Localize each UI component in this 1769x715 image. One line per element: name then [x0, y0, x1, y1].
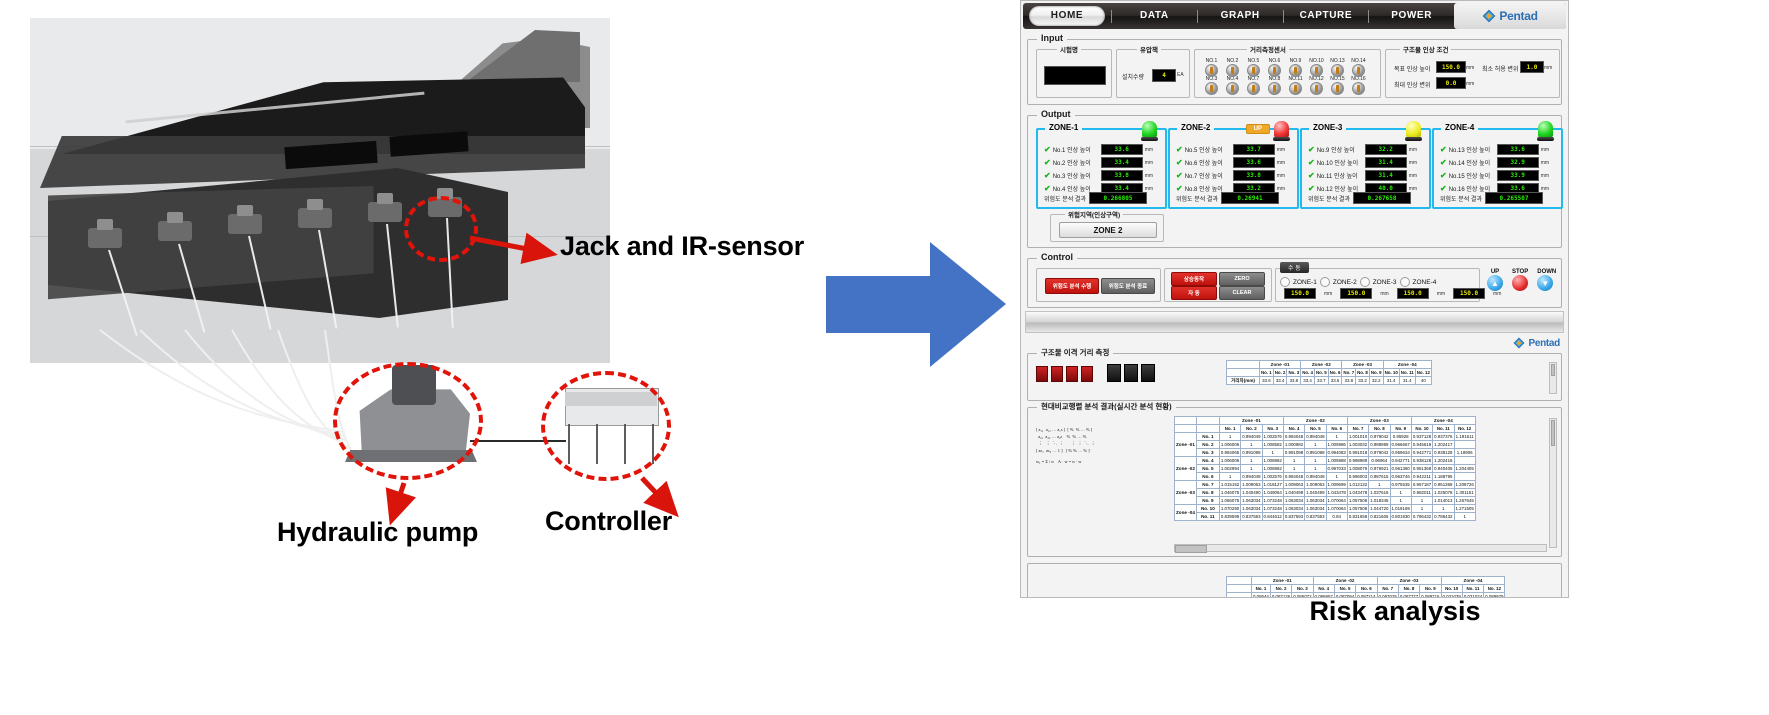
tab-capture[interactable]: CAPTURE	[1284, 3, 1369, 29]
sensor-icon[interactable]	[1352, 82, 1365, 95]
zone-2-radio[interactable]	[1320, 277, 1330, 287]
zone-3-unit-1: mm	[1409, 147, 1417, 153]
zone-4-check-icon: ✔	[1440, 159, 1447, 167]
analysis-cell: 1.001010	[1347, 433, 1368, 441]
analysis-zone-header-row: Zone -01Zone -02Zone -03Zone -04	[1175, 417, 1476, 425]
zone-4-group: ZONE-4 ✔No.13 인상 높이33.6mm ✔No.14 인상 높이32…	[1432, 128, 1563, 209]
analysis-col-2: No. 2	[1241, 425, 1262, 433]
measure-cell: 33.8	[1342, 377, 1356, 385]
zone-3-row-label: No.10 인상 높이	[1317, 158, 1363, 167]
measure-sensor-icons	[1036, 364, 1155, 382]
analysis-cell: 0.942771	[1390, 457, 1411, 465]
zone-2-unit-1: mm	[1277, 147, 1285, 153]
distance-sensor-caption: 거리측정센서	[1247, 44, 1289, 54]
analysis-cell: 0.786432	[1411, 513, 1432, 521]
measure-cell: 33.8	[1287, 377, 1301, 385]
zone-3-manual-value: 150.0	[1397, 288, 1429, 299]
zone-1-row-label: No.2 인상 높이	[1053, 158, 1099, 167]
output-panel-title: Output	[1037, 109, 1075, 119]
measure-col: No. 5	[1314, 369, 1328, 377]
zone-2-row-label: No.7 인상 높이	[1185, 171, 1231, 180]
analysis-cell: 0.942771	[1411, 449, 1432, 457]
analysis-cell: 0.991018	[1347, 449, 1368, 457]
zone-2-value-3: 33.8	[1233, 170, 1275, 181]
zone-3-row-label: No.9 인상 높이	[1317, 145, 1363, 154]
analysis-section-panel: 현대비교행렬 분석 결과(실시간 분석 현황) [ a₁₁ a₁₂ … a₁ₙ …	[1027, 407, 1562, 557]
summary-zone-header-2: Zone -02	[1313, 577, 1377, 585]
analysis-cell: 1.002576	[1262, 473, 1283, 481]
stop-analysis-button[interactable]: 위험도 분석 종료	[1101, 278, 1155, 294]
sensor-icon[interactable]	[1310, 64, 1323, 77]
analysis-cell: 1.18906	[1454, 449, 1475, 457]
measure-cell: 33.7	[1314, 377, 1328, 385]
measure-col: No. 3	[1287, 369, 1301, 377]
analysis-cell: 0.994048	[1305, 433, 1326, 441]
summary-col: No. 11	[1462, 585, 1483, 593]
zone-4-unit-2: mm	[1541, 160, 1549, 166]
analysis-cell: 0.994048	[1283, 433, 1304, 441]
zone-2-group: ZONE-2 UP ✔No.5 인상 높이33.7mm ✔No.6 인상 높이3…	[1168, 128, 1299, 209]
zone-3-value-2: 31.4	[1365, 157, 1407, 168]
max-disp-value[interactable]: 0.0	[1436, 77, 1466, 89]
analysis-cell: 1.267645	[1454, 497, 1475, 505]
zone-4-risk-label: 위험도 분석 결과	[1440, 194, 1482, 203]
test-name-group: 시험명	[1036, 49, 1112, 98]
zone-3-check-icon: ✔	[1308, 159, 1315, 167]
table-row: Zone -04No. 101.0702901.0630341.0732481.…	[1175, 505, 1476, 513]
analysis-cell: 0.839599	[1219, 513, 1240, 521]
sensor-cell: NO.8	[1264, 76, 1285, 94]
analysis-cell: 1.271505	[1454, 505, 1475, 513]
measure-col: No. 2	[1273, 369, 1287, 377]
sensor-cell: NO.16	[1348, 76, 1369, 94]
zone-1-check-icon: ✔	[1044, 146, 1051, 154]
sensor-icon[interactable]	[1352, 64, 1365, 77]
jog-control-group: UP ▲ STOP DOWN ▼	[1487, 269, 1556, 291]
zone-4-check-icon: ✔	[1440, 172, 1447, 180]
measure-indicator-1	[1036, 366, 1048, 382]
table-row: Zone -03No. 71.0151521.0090631.0181271.0…	[1175, 481, 1476, 489]
zone-4-status-lamp	[1538, 121, 1553, 138]
sensor-cell: NO.7	[1243, 76, 1264, 94]
sensor-icon[interactable]	[1268, 82, 1281, 95]
analysis-row-no: No. 3	[1196, 449, 1219, 457]
analysis-cell: 1.003032	[1347, 441, 1368, 449]
analysis-zone-header-1: Zone -01	[1219, 417, 1283, 425]
max-disp-label: 최대 인상 변위	[1394, 80, 1430, 89]
analysis-cell: 1	[1305, 465, 1326, 473]
analysis-cell: 1.044720	[1369, 505, 1390, 513]
summary-rowhdr-corner	[1227, 585, 1252, 593]
zone-1-status-lamp	[1142, 121, 1157, 138]
analysis-cell: 1.002994	[1219, 465, 1240, 473]
analysis-cell: 1.063034	[1283, 505, 1304, 513]
measure-zone-header-row: Zone -01 Zone -02 Zone -03 Zone -04	[1227, 361, 1432, 369]
table-row: No. 21.00600611.0085821.00098211.0059861…	[1175, 441, 1476, 449]
distance-sensor-group: 거리측정센서 NO.1 NO.2 NO.5 NO.6 NO.9 NO.10 NO…	[1194, 49, 1381, 98]
zone-1-row-label: No.1 인상 높이	[1053, 145, 1099, 154]
analysis-col-6: No. 6	[1326, 425, 1347, 433]
analysis-corner-b	[1196, 417, 1219, 425]
analysis-cell: 0.95928	[1390, 433, 1411, 441]
pump-buttons-group: 상승동작 ZERO 자 동 CLEAR	[1164, 268, 1272, 302]
analysis-cell: 1	[1390, 489, 1411, 497]
zone-1-risk-value: 0.266805	[1089, 192, 1147, 204]
analysis-table-scrollbar-v[interactable]	[1549, 418, 1557, 548]
window-separator-band	[1025, 311, 1564, 333]
analysis-cell: 1	[1283, 457, 1304, 465]
analysis-cell: 0.994048	[1241, 473, 1262, 481]
zone-2-value-2: 33.6	[1233, 157, 1275, 168]
lift-condition-group: 구조물 인상 조건 목표 인상 높이 150.0 mm 최소 허용 변위 편차 …	[1385, 49, 1560, 98]
sensor-icon[interactable]	[1268, 64, 1281, 77]
zone-1-manual-value: 150.0	[1284, 288, 1316, 299]
analysis-cell: 1.202417	[1433, 441, 1454, 449]
analysis-cell: 1.204405	[1454, 465, 1475, 473]
summary-corner-cell	[1227, 577, 1252, 585]
pentad-diamond-logo-icon	[1482, 9, 1496, 23]
auto-button[interactable]: 자 동	[1171, 286, 1217, 300]
analysis-cell: 0.994048	[1305, 473, 1326, 481]
measure-cell: 31.4	[1399, 377, 1415, 385]
measure-rowhdr-corner	[1227, 369, 1260, 377]
danger-zone-caption: 위험지역(인상구역)	[1065, 209, 1123, 219]
analysis-cell: 0.987615	[1369, 473, 1390, 481]
tab-home[interactable]: HOME	[1029, 6, 1105, 26]
analysis-cell: 0.937128	[1411, 433, 1432, 441]
zone-3-unit-3: mm	[1409, 173, 1417, 179]
analysis-cell: 0.996003	[1347, 473, 1368, 481]
analysis-cell: 0.979042	[1369, 433, 1390, 441]
summary-col: No. 12	[1484, 585, 1505, 593]
zone-2-check-icon: ✔	[1176, 159, 1183, 167]
analysis-cell: 0.951368	[1433, 481, 1454, 489]
zone-1-unit-3: mm	[1145, 173, 1153, 179]
analysis-col-4: No. 4	[1283, 425, 1304, 433]
summary-col: No. 7	[1377, 585, 1398, 593]
analysis-cell: 1.188795	[1433, 473, 1454, 481]
analysis-cell: 1.018127	[1262, 481, 1283, 489]
zone-4-risk-value: 0.265507	[1485, 192, 1543, 204]
analysis-table-scrollbar-h[interactable]	[1174, 544, 1547, 552]
zone-3-check-icon: ✔	[1308, 172, 1315, 180]
analysis-col-3: No. 3	[1262, 425, 1283, 433]
sensor-icon[interactable]	[1247, 82, 1260, 95]
measure-corner-cell	[1227, 361, 1260, 369]
zone-2-unit-3: mm	[1277, 173, 1285, 179]
analysis-table: Zone -01Zone -02Zone -03Zone -04No. 1No.…	[1174, 416, 1476, 521]
measure-table-scrollbar[interactable]	[1549, 362, 1557, 394]
sensor-icon[interactable]	[1331, 82, 1344, 95]
zone-2-title: ZONE-2	[1177, 123, 1214, 132]
analysis-cell: 1.040499	[1305, 489, 1326, 497]
analysis-cell	[1454, 457, 1475, 465]
analysis-cell: 1.070064	[1326, 505, 1347, 513]
zone-1-value-3: 33.8	[1101, 170, 1143, 181]
measure-col: No. 1	[1260, 369, 1274, 377]
sensor-icon[interactable]	[1289, 82, 1302, 95]
hydraulic-qty-value[interactable]: 4	[1152, 69, 1176, 82]
measure-column-header-row: No. 1 No. 2 No. 3 No. 4 No. 5 No. 6 No. …	[1227, 369, 1432, 377]
analysis-row-no: No. 4	[1196, 457, 1219, 465]
measure-module-3	[1141, 364, 1155, 382]
brand-name-second: Pentad	[1528, 338, 1560, 349]
summary-zone-header-1: Zone -01	[1252, 577, 1314, 585]
analysis-cell: 1.066075	[1219, 497, 1240, 505]
measure-zone-header-2: Zone -02	[1301, 361, 1342, 369]
analysis-cell: 1.073248	[1262, 505, 1283, 513]
analysis-cell: 0.997033	[1326, 465, 1347, 473]
analysis-cell: 0.994048	[1283, 473, 1304, 481]
zone-2-risk-label: 위험도 분석 결과	[1176, 194, 1218, 203]
zero-button[interactable]: ZERO	[1219, 272, 1265, 286]
pump-up-button[interactable]: 상승동작	[1171, 272, 1217, 286]
zone-4-radio[interactable]	[1400, 277, 1410, 287]
analysis-col-9: No. 9	[1390, 425, 1411, 433]
analysis-cell: 1.057508	[1347, 497, 1368, 505]
sensor-cell: NO.15	[1327, 76, 1348, 94]
jack-3	[228, 214, 262, 234]
analysis-col-1: No. 1	[1219, 425, 1240, 433]
measure-section-title: 구조물 이격 거리 측정	[1037, 347, 1113, 358]
analysis-row-no: No. 9	[1196, 497, 1219, 505]
test-name-caption: 시험명	[1057, 44, 1081, 54]
zone-3-unit-2: mm	[1409, 160, 1417, 166]
tab-power[interactable]: POWER	[1369, 3, 1454, 29]
analysis-cell: 1	[1326, 433, 1347, 441]
measure-cell: 31.4	[1383, 377, 1399, 385]
analysis-cell: 1.000982	[1283, 441, 1304, 449]
analysis-cell: 0.998989	[1347, 457, 1368, 465]
analysis-cell: 1.009699	[1326, 481, 1347, 489]
analysis-cell: 1	[1241, 465, 1262, 473]
analysis-cell: 1.070290	[1219, 505, 1240, 513]
analysis-cell: 1	[1241, 441, 1262, 449]
sensor-icon[interactable]	[1247, 64, 1260, 77]
measure-cell: 33.6	[1260, 377, 1274, 385]
summary-zone-header-row: Zone -01 Zone -02 Zone -03 Zone -04	[1227, 577, 1505, 585]
measure-col: No. 10	[1383, 369, 1399, 377]
analysis-cell: 0.975535	[1390, 481, 1411, 489]
table-row: No. 91.0660751.0630341.0732481.0630341.0…	[1175, 497, 1476, 505]
analysis-cell: 1	[1262, 449, 1283, 457]
analysis-col-7: No. 7	[1347, 425, 1368, 433]
measure-cell: 33.2	[1356, 377, 1370, 385]
zone-1-unit-4: mm	[1145, 186, 1153, 192]
analysis-cell: 1.012132	[1347, 481, 1368, 489]
analysis-cell: 1.008982	[1262, 465, 1283, 473]
tab-graph[interactable]: GRAPH	[1198, 3, 1283, 29]
analysis-cell: 1.025078	[1433, 489, 1454, 497]
jog-stop-label: STOP	[1512, 269, 1528, 275]
zone-3-radio[interactable]	[1360, 277, 1370, 287]
analysis-cell: 0.988989	[1369, 441, 1390, 449]
analysis-cell: 1.073248	[1262, 497, 1283, 505]
zone-1-value-1: 33.6	[1101, 144, 1143, 155]
manual-caption: 수 동	[1280, 262, 1309, 273]
sensor-cell: NO.10	[1306, 58, 1327, 76]
zone-4-check-icon: ✔	[1440, 146, 1447, 154]
sensor-cell: NO.6	[1264, 58, 1285, 76]
zone-3-row-label: No.11 인상 높이	[1317, 171, 1363, 180]
analysis-cell: 0.982011	[1411, 489, 1432, 497]
test-name-input[interactable]	[1044, 66, 1106, 85]
analysis-row-group-1: Zone -01	[1175, 433, 1197, 457]
arrow-to-pump-label	[393, 483, 404, 516]
analysis-cell: 1	[1219, 433, 1240, 441]
zone-3-risk-label: 위험도 분석 결과	[1308, 194, 1350, 203]
analysis-cell: 1.019169	[1390, 505, 1411, 513]
analysis-cell: 0.937376	[1433, 433, 1454, 441]
summary-table-wrap: Zone -01 Zone -02 Zone -03 Zone -04 No. …	[1226, 576, 1505, 598]
arrow-down-icon[interactable]: ▼	[1537, 275, 1553, 291]
analysis-cell: 0.801930	[1390, 513, 1411, 521]
analysis-col-10: No. 10	[1411, 425, 1432, 433]
measure-module-1	[1107, 364, 1121, 382]
analysis-row-group-3: Zone -03	[1175, 481, 1197, 505]
analysis-buttons-group: 위험도 분석 수행 위험도 분석 종료	[1036, 268, 1161, 302]
analysis-cell: 1.014013	[1433, 497, 1454, 505]
analysis-cell: 1.208726	[1454, 481, 1475, 489]
max-disp-unit: mm	[1466, 81, 1474, 87]
zone-4-title: ZONE-4	[1441, 123, 1478, 132]
analysis-cell: 1.009063	[1241, 481, 1262, 489]
analysis-row-no: No. 5	[1196, 465, 1219, 473]
analysis-row-no: No. 11	[1196, 513, 1219, 521]
danger-zone-value: ZONE 2	[1059, 222, 1157, 238]
measure-cell: 33.4	[1273, 377, 1287, 385]
analysis-cell	[1454, 441, 1475, 449]
zone-4-unit-3: mm	[1541, 173, 1549, 179]
tolerance-value[interactable]: 1.0	[1520, 61, 1544, 73]
zone-4-value-3: 33.9	[1497, 170, 1539, 181]
analysis-section-title: 현대비교행렬 분석 결과(실시간 분석 현황)	[1037, 401, 1176, 412]
sensor-icon[interactable]	[1226, 82, 1239, 95]
analysis-cell: 1	[1433, 505, 1454, 513]
table-row: Zone -01No. 110.9940491.0025760.9940480.…	[1175, 433, 1476, 441]
summary-col: No. 2	[1270, 585, 1291, 593]
zone-3-check-icon: ✔	[1308, 146, 1315, 154]
measure-col: No. 6	[1328, 369, 1342, 377]
analysis-cell: 1.006006	[1219, 441, 1240, 449]
jog-up[interactable]: UP ▲	[1487, 269, 1503, 291]
analysis-cell: 1	[1305, 441, 1326, 449]
analysis-row-group-4: Zone -04	[1175, 505, 1197, 521]
analysis-cell: 0.994083	[1326, 449, 1347, 457]
control-panel: Control 위험도 분석 수행 위험도 분석 종료 상승동작 ZERO 자 …	[1027, 258, 1562, 308]
zone-4-value-1: 33.6	[1497, 144, 1539, 155]
measure-cell: 32.2	[1369, 377, 1383, 385]
jog-down[interactable]: DOWN ▼	[1537, 269, 1556, 291]
left-figure-panel: Jack and IR-sensor Hydraulic pump Contro…	[0, 0, 810, 715]
measure-zone-header-4: Zone -04	[1383, 361, 1431, 369]
sensor-icon[interactable]	[1310, 82, 1323, 95]
zone-3-unit-4: mm	[1409, 186, 1417, 192]
tab-data[interactable]: DATA	[1112, 3, 1197, 29]
analysis-cell: 0.994049	[1241, 433, 1262, 441]
zone-1-value-2: 33.4	[1101, 157, 1143, 168]
analysis-cell: 1	[1219, 473, 1240, 481]
analysis-cell: 1.057508	[1347, 505, 1368, 513]
input-panel-title: Input	[1037, 33, 1067, 43]
sensor-icon[interactable]	[1226, 64, 1239, 77]
analysis-cell: 0.959634	[1390, 449, 1411, 457]
zone-4-manual-value: 150.0	[1453, 288, 1485, 299]
analysis-cell: 1.063034	[1241, 497, 1262, 505]
analysis-cell: 1.070064	[1326, 497, 1347, 505]
analysis-cell: 1	[1369, 481, 1390, 489]
measure-col: No. 11	[1399, 369, 1415, 377]
zone-1-radio[interactable]	[1280, 277, 1290, 287]
zone-4-unit-1: mm	[1541, 147, 1549, 153]
analysis-cell: 0.991098	[1305, 449, 1326, 457]
table-row: No. 110.8395990.8375930.8446120.8375930.…	[1175, 513, 1476, 521]
brand-name-top: Pentad	[1499, 9, 1537, 23]
zone-4-value-2: 32.9	[1497, 157, 1539, 168]
sensor-icon[interactable]	[1331, 64, 1344, 77]
stop-icon[interactable]	[1512, 275, 1528, 291]
control-panel-title: Control	[1037, 252, 1077, 262]
analysis-cell: 1	[1454, 513, 1475, 521]
hydraulic-group: 유압잭 설치수량 4 EA	[1116, 49, 1190, 98]
analysis-zone-header-2: Zone -02	[1283, 417, 1347, 425]
analysis-cell: 0.831658	[1347, 513, 1368, 521]
analysis-cell: 1.009063	[1305, 481, 1326, 489]
measure-col: No. 9	[1369, 369, 1383, 377]
summary-col: No. 10	[1441, 585, 1462, 593]
sensor-icon[interactable]	[1289, 64, 1302, 77]
analysis-cell: 0.84	[1326, 513, 1347, 521]
analysis-cell: 1	[1390, 497, 1411, 505]
zone-2-unit-2: mm	[1277, 160, 1285, 166]
jog-stop[interactable]: STOP	[1512, 269, 1528, 291]
analysis-row-no: No. 7	[1196, 481, 1219, 489]
risk-analysis-caption: Risk analysis	[1205, 596, 1585, 627]
clear-button[interactable]: CLEAR	[1219, 286, 1265, 300]
summary-col: No. 8	[1398, 585, 1419, 593]
analysis-col-8: No. 8	[1369, 425, 1390, 433]
analysis-table-wrap: Zone -01Zone -02Zone -03Zone -04No. 1No.…	[1174, 416, 1476, 521]
hydraulic-qty-unit: EA	[1177, 72, 1184, 78]
sensor-cell: NO.3	[1201, 76, 1222, 94]
analysis-cell: 1.063034	[1241, 505, 1262, 513]
sensor-icon[interactable]	[1205, 64, 1218, 77]
arrow-up-icon[interactable]: ▲	[1487, 275, 1503, 291]
zone-3-risk-value: 0.267658	[1353, 192, 1411, 204]
measure-col: No. 8	[1356, 369, 1370, 377]
table-row: No. 81.0460751.0404901.0490641.0404991.0…	[1175, 489, 1476, 497]
run-analysis-button[interactable]: 위험도 분석 수행	[1045, 278, 1099, 294]
sensor-icon[interactable]	[1205, 82, 1218, 95]
target-height-value[interactable]: 150.0	[1436, 61, 1466, 73]
analysis-cell: 1.043478	[1347, 489, 1368, 497]
analysis-cell: 1	[1326, 473, 1347, 481]
summary-col: No. 4	[1313, 585, 1334, 593]
label-hydraulic-pump: Hydraulic pump	[277, 517, 478, 548]
bridge-photo	[30, 18, 610, 363]
measure-table: Zone -01 Zone -02 Zone -03 Zone -04 No. …	[1226, 360, 1432, 385]
analysis-cell: 0.837593	[1283, 513, 1304, 521]
analysis-column-header-row: No. 1No. 2No. 3No. 4No. 5No. 6No. 7No. 8…	[1175, 425, 1476, 433]
highlight-circle-controller	[541, 371, 671, 481]
analysis-cell: 0.979042	[1369, 449, 1390, 457]
analysis-cell: 1.008079	[1347, 465, 1368, 473]
measure-row-label: 거리차(mm)	[1227, 377, 1260, 385]
analysis-cell: 0.942211	[1411, 473, 1432, 481]
measure-col: No. 4	[1301, 369, 1315, 377]
analysis-cell: 1.063034	[1305, 505, 1326, 513]
analysis-row-no: No. 6	[1196, 473, 1219, 481]
